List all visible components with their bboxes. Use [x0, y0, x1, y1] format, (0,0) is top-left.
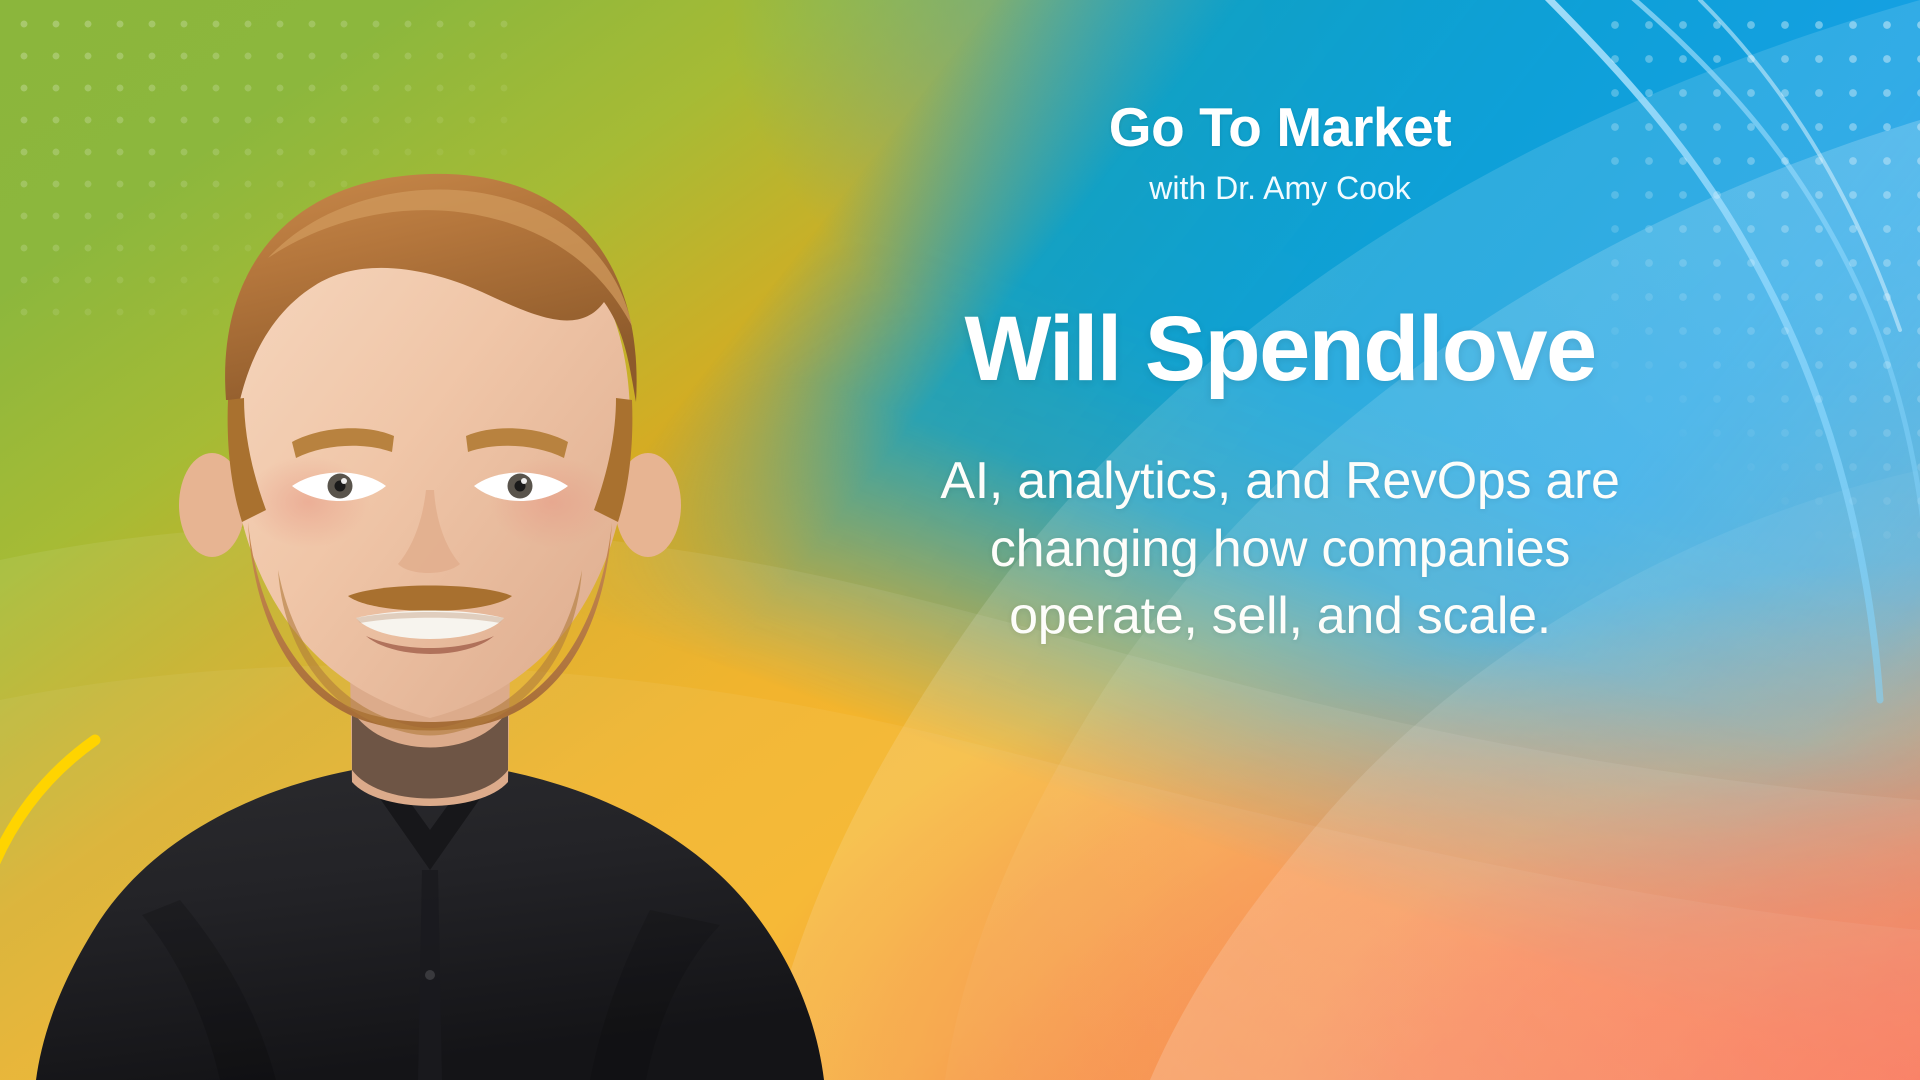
dot-grid-top-right: [1590, 0, 1920, 560]
guest-portrait: [30, 70, 830, 1080]
podcast-promo-card: Go To Market with Dr. Amy Cook Will Spen…: [0, 0, 1920, 1080]
portrait-torso: [36, 758, 824, 1080]
